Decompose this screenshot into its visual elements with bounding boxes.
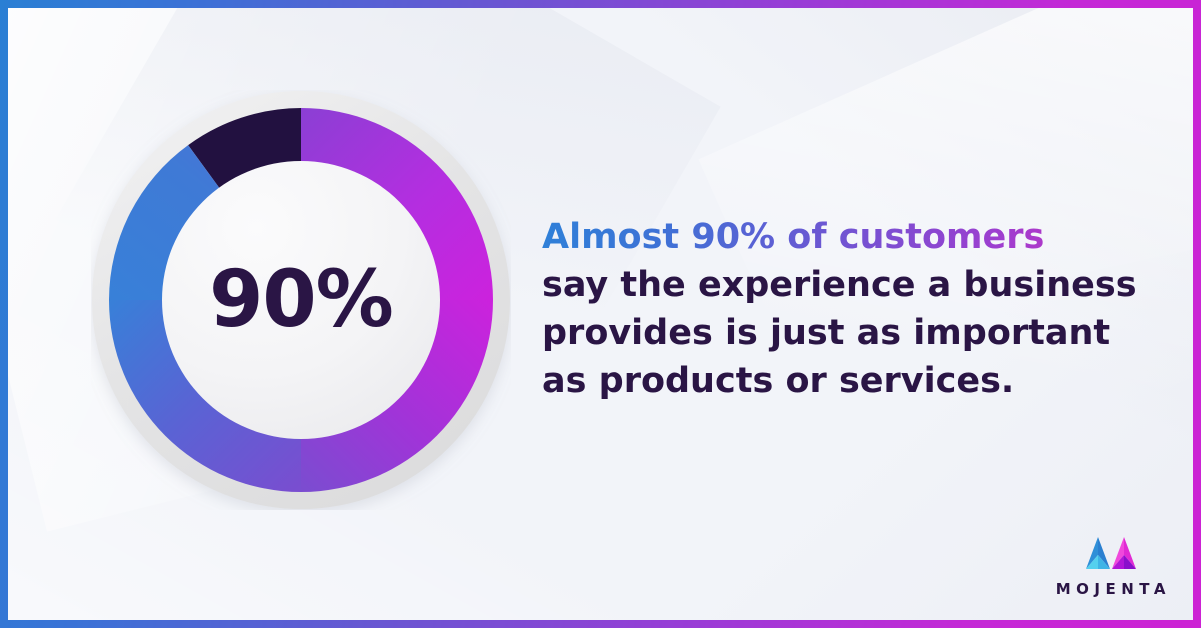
brand-wordmark: MOJENTA [1050, 580, 1171, 598]
statement-line-2: say the experience a business [542, 261, 1182, 309]
donut-chart: 90% [91, 90, 511, 510]
statement-text-block: Almost 90% of customers say the experien… [542, 213, 1182, 405]
brand-logo: MOJENTA [1050, 535, 1171, 598]
mojenta-mountain-logo-icon [1082, 535, 1140, 573]
donut-center-value: 90% [91, 90, 511, 510]
statement-line-headline: Almost 90% of customers [542, 213, 1182, 261]
statement-line-3: provides is just as important [542, 309, 1182, 357]
statement-line-4: as products or services. [542, 357, 1182, 405]
infographic-frame: 90% Almost 90% of customers say the expe… [0, 0, 1201, 628]
infographic-canvas: 90% Almost 90% of customers say the expe… [8, 8, 1193, 620]
